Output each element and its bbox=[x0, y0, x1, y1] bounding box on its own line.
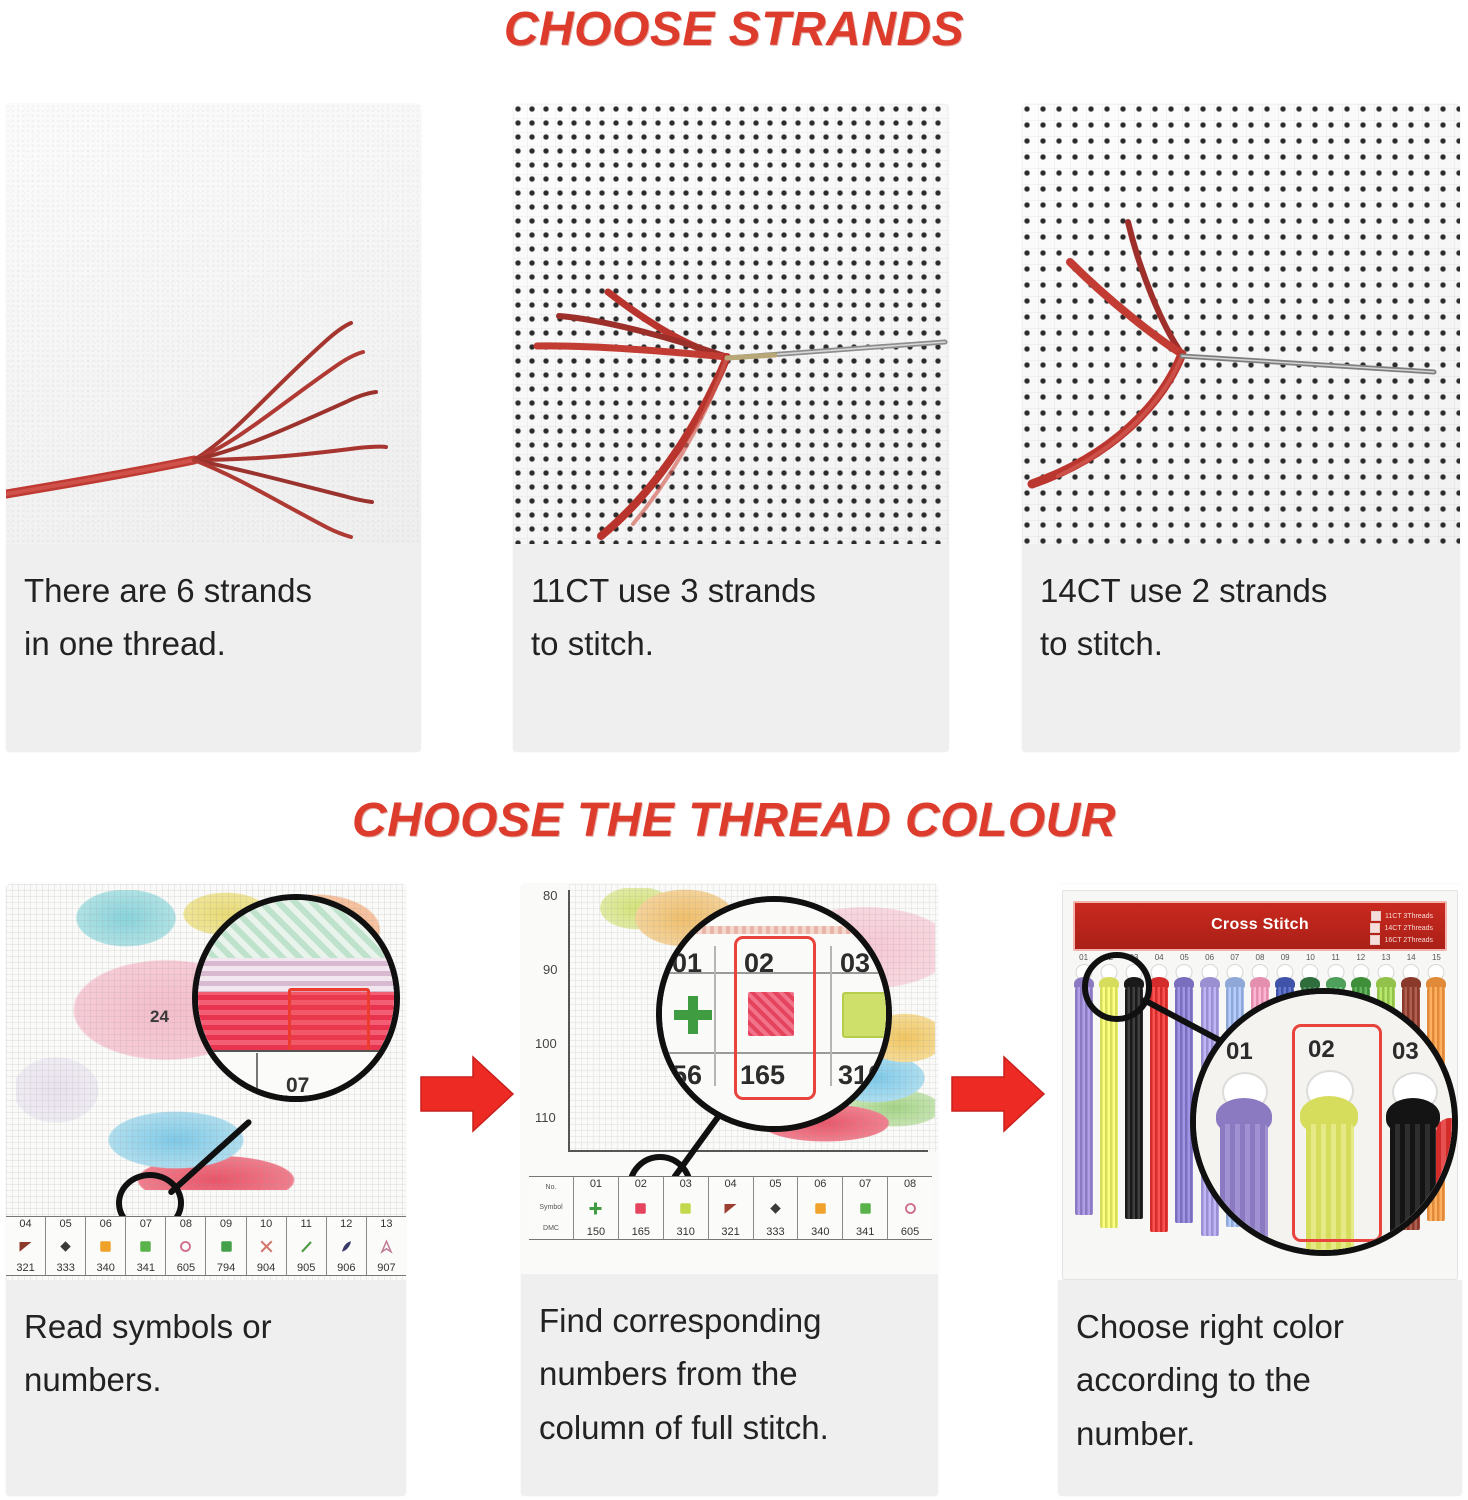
legend-cell-symbol bbox=[138, 1239, 153, 1254]
legend-cell-symbol bbox=[178, 1239, 193, 1254]
legend-cell-number: 04 bbox=[724, 1179, 736, 1190]
legend-cell-number: 12 bbox=[340, 1219, 352, 1230]
legend-cell-dmc: 321 bbox=[16, 1263, 34, 1274]
caption-line: numbers from the bbox=[539, 1347, 920, 1400]
legend-cell: 07341 bbox=[843, 1177, 888, 1239]
magnified-skein bbox=[1390, 1124, 1436, 1256]
y-axis-tick: 100 bbox=[535, 1036, 557, 1051]
magnified-column-number: 01 bbox=[672, 948, 702, 979]
checkbox-label: 11CT 3Threads bbox=[1385, 913, 1433, 920]
right-arrow-1 bbox=[419, 1055, 515, 1133]
legend-cell-number: 07 bbox=[859, 1179, 871, 1190]
legend-cell-number: 07 bbox=[140, 1219, 152, 1230]
legend-cell-dmc: 340 bbox=[97, 1263, 115, 1274]
legend-cell-dmc: 341 bbox=[856, 1227, 874, 1238]
pattern-chart-symbols-photo: 24 6 07 04321053330634007341086050979410… bbox=[6, 884, 406, 1280]
caption-line: to stitch. bbox=[531, 617, 931, 670]
legend-cell-symbol bbox=[858, 1201, 873, 1216]
caption-line: Find corresponding bbox=[539, 1294, 920, 1347]
legend-cell: 05333 bbox=[754, 1177, 799, 1239]
thread-slot-number: 09 bbox=[1273, 953, 1298, 962]
caption-line: according to the bbox=[1076, 1353, 1444, 1406]
skein bbox=[1075, 987, 1093, 1215]
slash-icon bbox=[299, 1239, 314, 1254]
checkbox-label: 16CT 2Threads bbox=[1384, 937, 1433, 944]
legend-cell: 05333 bbox=[46, 1217, 86, 1275]
aida-11ct-needle-photo bbox=[513, 104, 949, 544]
checkbox-row-1: 11CT 3Threads bbox=[1371, 911, 1433, 921]
legend-header-no: No. bbox=[546, 1184, 557, 1191]
legend-cell: 06340 bbox=[798, 1177, 843, 1239]
magnified-legend-strip: 6 07 bbox=[198, 1050, 394, 1102]
thread-slot-number: 11 bbox=[1323, 953, 1348, 962]
thread-slot-number: 04 bbox=[1147, 953, 1172, 962]
magnified-slot-number: 03 bbox=[1392, 1038, 1419, 1066]
right-arrow-2 bbox=[950, 1055, 1046, 1133]
legend-cell-dmc: 321 bbox=[721, 1227, 739, 1238]
magnified-column-number: 03 bbox=[840, 948, 870, 979]
legend-cell-dmc: 794 bbox=[217, 1263, 235, 1274]
magnified-green-stitches bbox=[198, 900, 394, 962]
legend-cell-dmc: 605 bbox=[901, 1227, 919, 1238]
legend-cell: 09794 bbox=[206, 1217, 246, 1275]
y-axis-tick: 90 bbox=[543, 962, 557, 977]
legend-cell-number: 09 bbox=[220, 1219, 232, 1230]
caption-line: to stitch. bbox=[1040, 617, 1442, 670]
leaf-icon bbox=[339, 1239, 354, 1254]
square-green-icon bbox=[858, 1201, 873, 1216]
legend-cell-symbol bbox=[219, 1239, 234, 1254]
caption-line: There are 6 strands bbox=[24, 564, 403, 617]
caption-find-numbers: Find corresponding numbers from the colu… bbox=[521, 1274, 938, 1496]
magnified-highlight-box bbox=[1292, 1024, 1382, 1242]
chart-with-column-numbers-photo: 80 90 100 110 01 02 03 bbox=[521, 884, 938, 1274]
legend-cell-number: 11 bbox=[300, 1219, 311, 1230]
legend-cell-symbol bbox=[903, 1201, 918, 1216]
caption-six-strands: There are 6 strands in one thread. bbox=[6, 544, 421, 752]
thread-slot-number: 12 bbox=[1348, 953, 1373, 962]
legend-header-symbol: Symbol bbox=[539, 1204, 562, 1211]
legend-cell: 08605 bbox=[166, 1217, 206, 1275]
checkbox-icon[interactable] bbox=[1371, 911, 1381, 921]
aida-14ct-needle-photo bbox=[1022, 104, 1460, 544]
legend-cell-dmc: 904 bbox=[257, 1263, 275, 1274]
legend-cell-symbol bbox=[299, 1239, 314, 1254]
circle-outline-icon bbox=[178, 1239, 193, 1254]
square-orange-icon bbox=[813, 1201, 828, 1216]
legend-cell-dmc: 906 bbox=[337, 1263, 355, 1274]
legend-cell-symbol bbox=[633, 1201, 648, 1216]
caption-11ct: 11CT use 3 strands to stitch. bbox=[513, 544, 949, 752]
magnified-lime-swatch bbox=[842, 992, 890, 1038]
magnified-highlight-box bbox=[734, 936, 816, 1100]
legend-cell-number: 03 bbox=[680, 1179, 692, 1190]
legend-cell: 06340 bbox=[86, 1217, 126, 1275]
magnified-legend-number: 6 bbox=[208, 1074, 220, 1098]
magnified-legend-number: 07 bbox=[286, 1074, 309, 1098]
legend-cell-number: 13 bbox=[380, 1219, 392, 1230]
checkbox-icon[interactable] bbox=[1370, 923, 1380, 933]
legend-cell-symbol bbox=[379, 1239, 394, 1254]
caption-line: in one thread. bbox=[24, 617, 403, 670]
legend-cell-number: 08 bbox=[180, 1219, 192, 1230]
skein bbox=[1100, 987, 1118, 1228]
thread-slot-number: 05 bbox=[1172, 953, 1197, 962]
square-green2-icon bbox=[219, 1239, 234, 1254]
legend-cell-number: 02 bbox=[635, 1179, 647, 1190]
page-title-choose-thread-colour: CHOOSE THE THREAD COLOUR bbox=[0, 793, 1468, 848]
legend-cell-dmc: 333 bbox=[766, 1227, 784, 1238]
square-orange-icon bbox=[98, 1239, 113, 1254]
skein bbox=[1150, 987, 1168, 1232]
card-six-strands: There are 6 strands in one thread. bbox=[6, 104, 421, 752]
page-title-choose-strands: CHOOSE STRANDS bbox=[0, 2, 1468, 57]
legend-cell-number: 06 bbox=[100, 1219, 112, 1230]
magnifier-focus-circle bbox=[1082, 952, 1152, 1022]
square-lime-icon bbox=[678, 1201, 693, 1216]
checkbox-row-3: 16CT 2Threads bbox=[1370, 935, 1433, 945]
legend-cell-dmc: 150 bbox=[587, 1227, 605, 1238]
thread-slot-number: 10 bbox=[1298, 953, 1323, 962]
thread-slot-number: 13 bbox=[1373, 953, 1398, 962]
legend-cell-symbol bbox=[58, 1239, 73, 1254]
legend-cell-symbol bbox=[588, 1201, 603, 1216]
square-green-icon bbox=[138, 1239, 153, 1254]
legend-cell: 13907 bbox=[367, 1217, 406, 1275]
card-choose-colour: Cross Stitch 11CT 3Threads 14CT 2Threads… bbox=[1058, 884, 1462, 1496]
caption-line: Choose right color bbox=[1076, 1300, 1444, 1353]
thread-slot-number: 15 bbox=[1424, 953, 1449, 962]
legend-cell-number: 05 bbox=[60, 1219, 72, 1230]
thread-slot-number: 14 bbox=[1399, 953, 1424, 962]
legend-cell: 11905 bbox=[287, 1217, 327, 1275]
legend-cell-number: 01 bbox=[590, 1179, 602, 1190]
magnified-dmc-number: 56 bbox=[672, 1060, 702, 1091]
infographic-page: CHOOSE STRANDS There are 6 strands in o bbox=[0, 0, 1468, 1500]
magnified-dmc-number: 310 bbox=[838, 1060, 883, 1091]
thread-slot-number: 06 bbox=[1197, 953, 1222, 962]
six-strand-thread-photo bbox=[6, 104, 421, 544]
legend-row-headers: No. Symbol DMC bbox=[529, 1177, 574, 1239]
legend-cell-symbol bbox=[678, 1201, 693, 1216]
legend-cell-symbol bbox=[723, 1201, 738, 1216]
magnifier-bubble: 01 02 03 56 165 310 bbox=[656, 896, 892, 1132]
caption-line: column of full stitch. bbox=[539, 1401, 920, 1454]
needle-and-two-strands-illustration bbox=[1022, 104, 1460, 544]
checkbox-label: 14CT 2Threads bbox=[1384, 925, 1433, 932]
card-read-symbols: 24 6 07 04321053330634007341086050979410… bbox=[6, 884, 406, 1496]
legend-cell-number: 08 bbox=[904, 1179, 916, 1190]
legend-table-wrapper: No. Symbol DMC 0115002165033100432105333… bbox=[529, 1176, 932, 1240]
circle-outline-icon bbox=[903, 1201, 918, 1216]
caption-read-symbols: Read symbols or numbers. bbox=[6, 1280, 406, 1496]
magnified-top-stitch-row bbox=[662, 926, 886, 934]
cross-x-icon bbox=[259, 1239, 274, 1254]
pattern-cell-label: 24 bbox=[150, 1007, 169, 1027]
legend-cell: 04321 bbox=[709, 1177, 754, 1239]
legend-cell-dmc: 340 bbox=[811, 1227, 829, 1238]
legend-cell-dmc: 905 bbox=[297, 1263, 315, 1274]
legend-header-dmc: DMC bbox=[543, 1225, 559, 1232]
legend-table: 0115002165033100432105333063400734108605 bbox=[574, 1177, 932, 1239]
caption-line: 14CT use 2 strands bbox=[1040, 564, 1442, 617]
caption-line: Read symbols or bbox=[24, 1300, 388, 1353]
chart-x-axis bbox=[568, 1150, 928, 1152]
chart-y-axis bbox=[568, 890, 570, 1152]
caption-14ct: 14CT use 2 strands to stitch. bbox=[1022, 544, 1460, 752]
thread-slot-number: 08 bbox=[1247, 953, 1272, 962]
legend-cell-dmc: 907 bbox=[377, 1263, 395, 1274]
card-find-numbers: 80 90 100 110 01 02 03 bbox=[521, 884, 938, 1496]
caption-line: 11CT use 3 strands bbox=[531, 564, 931, 617]
legend-cell: 08605 bbox=[888, 1177, 932, 1239]
legend-cell-symbol bbox=[813, 1201, 828, 1216]
triangle-icon bbox=[723, 1201, 738, 1216]
caption-choose-colour: Choose right color according to the numb… bbox=[1058, 1280, 1462, 1496]
legend-cell-number: 10 bbox=[260, 1219, 272, 1230]
legend-cell-dmc: 333 bbox=[56, 1263, 74, 1274]
legend-cell-number: 04 bbox=[19, 1219, 31, 1230]
magnifier-bubble: 01 02 03 bbox=[1190, 988, 1458, 1256]
y-axis-tick: 110 bbox=[535, 1110, 556, 1125]
legend-cell-number: 06 bbox=[814, 1179, 826, 1190]
legend-cell: 04321 bbox=[6, 1217, 46, 1275]
plus-symbol-icon bbox=[670, 992, 716, 1038]
organizer-card-header: Cross Stitch 11CT 3Threads 14CT 2Threads… bbox=[1073, 901, 1447, 951]
y-axis-tick: 80 bbox=[543, 888, 557, 903]
plus-green-icon bbox=[588, 1201, 603, 1216]
caption-line: numbers. bbox=[24, 1353, 388, 1406]
legend-table: 0432105333063400734108605097941090411905… bbox=[6, 1216, 406, 1276]
square-red-icon bbox=[633, 1201, 648, 1216]
legend-cell-symbol bbox=[768, 1201, 783, 1216]
legend-cell: 02165 bbox=[619, 1177, 664, 1239]
magnified-skein bbox=[1220, 1124, 1268, 1256]
legend-cell-symbol bbox=[339, 1239, 354, 1254]
card-14ct: 14CT use 2 strands to stitch. bbox=[1022, 104, 1460, 752]
legend-cell-dmc: 310 bbox=[677, 1227, 695, 1238]
thread-strands-illustration bbox=[6, 104, 421, 544]
magnified-slot-number: 01 bbox=[1226, 1038, 1253, 1066]
legend-cell: 03310 bbox=[664, 1177, 709, 1239]
legend-cell-number: 05 bbox=[769, 1179, 781, 1190]
card-11ct: 11CT use 3 strands to stitch. bbox=[513, 104, 949, 752]
caption-line: number. bbox=[1076, 1407, 1444, 1460]
thread-slot-number: 07 bbox=[1222, 953, 1247, 962]
legend-cell-symbol bbox=[98, 1239, 113, 1254]
legend-cell: 07341 bbox=[126, 1217, 166, 1275]
checkbox-row-2: 14CT 2Threads bbox=[1370, 923, 1433, 933]
legend-cell-dmc: 341 bbox=[137, 1263, 155, 1274]
legend-cell: 01150 bbox=[574, 1177, 619, 1239]
thread-organizer-card-photo: Cross Stitch 11CT 3Threads 14CT 2Threads… bbox=[1058, 884, 1462, 1280]
legend-cell-symbol bbox=[18, 1239, 33, 1254]
diamond-icon bbox=[768, 1201, 783, 1216]
needle-and-three-strands-illustration bbox=[513, 104, 949, 544]
checkbox-icon[interactable] bbox=[1370, 935, 1380, 945]
legend-cell: 12906 bbox=[327, 1217, 367, 1275]
triangle-icon bbox=[18, 1239, 33, 1254]
skein bbox=[1125, 987, 1143, 1219]
magnifier-bubble: 6 07 bbox=[192, 894, 400, 1102]
diamond-icon bbox=[58, 1239, 73, 1254]
legend-cell-dmc: 165 bbox=[632, 1227, 650, 1238]
legend-cell: 10904 bbox=[247, 1217, 287, 1275]
arrowhead-icon bbox=[379, 1239, 394, 1254]
legend-cell-dmc: 605 bbox=[177, 1263, 195, 1274]
legend-cell-symbol bbox=[259, 1239, 274, 1254]
